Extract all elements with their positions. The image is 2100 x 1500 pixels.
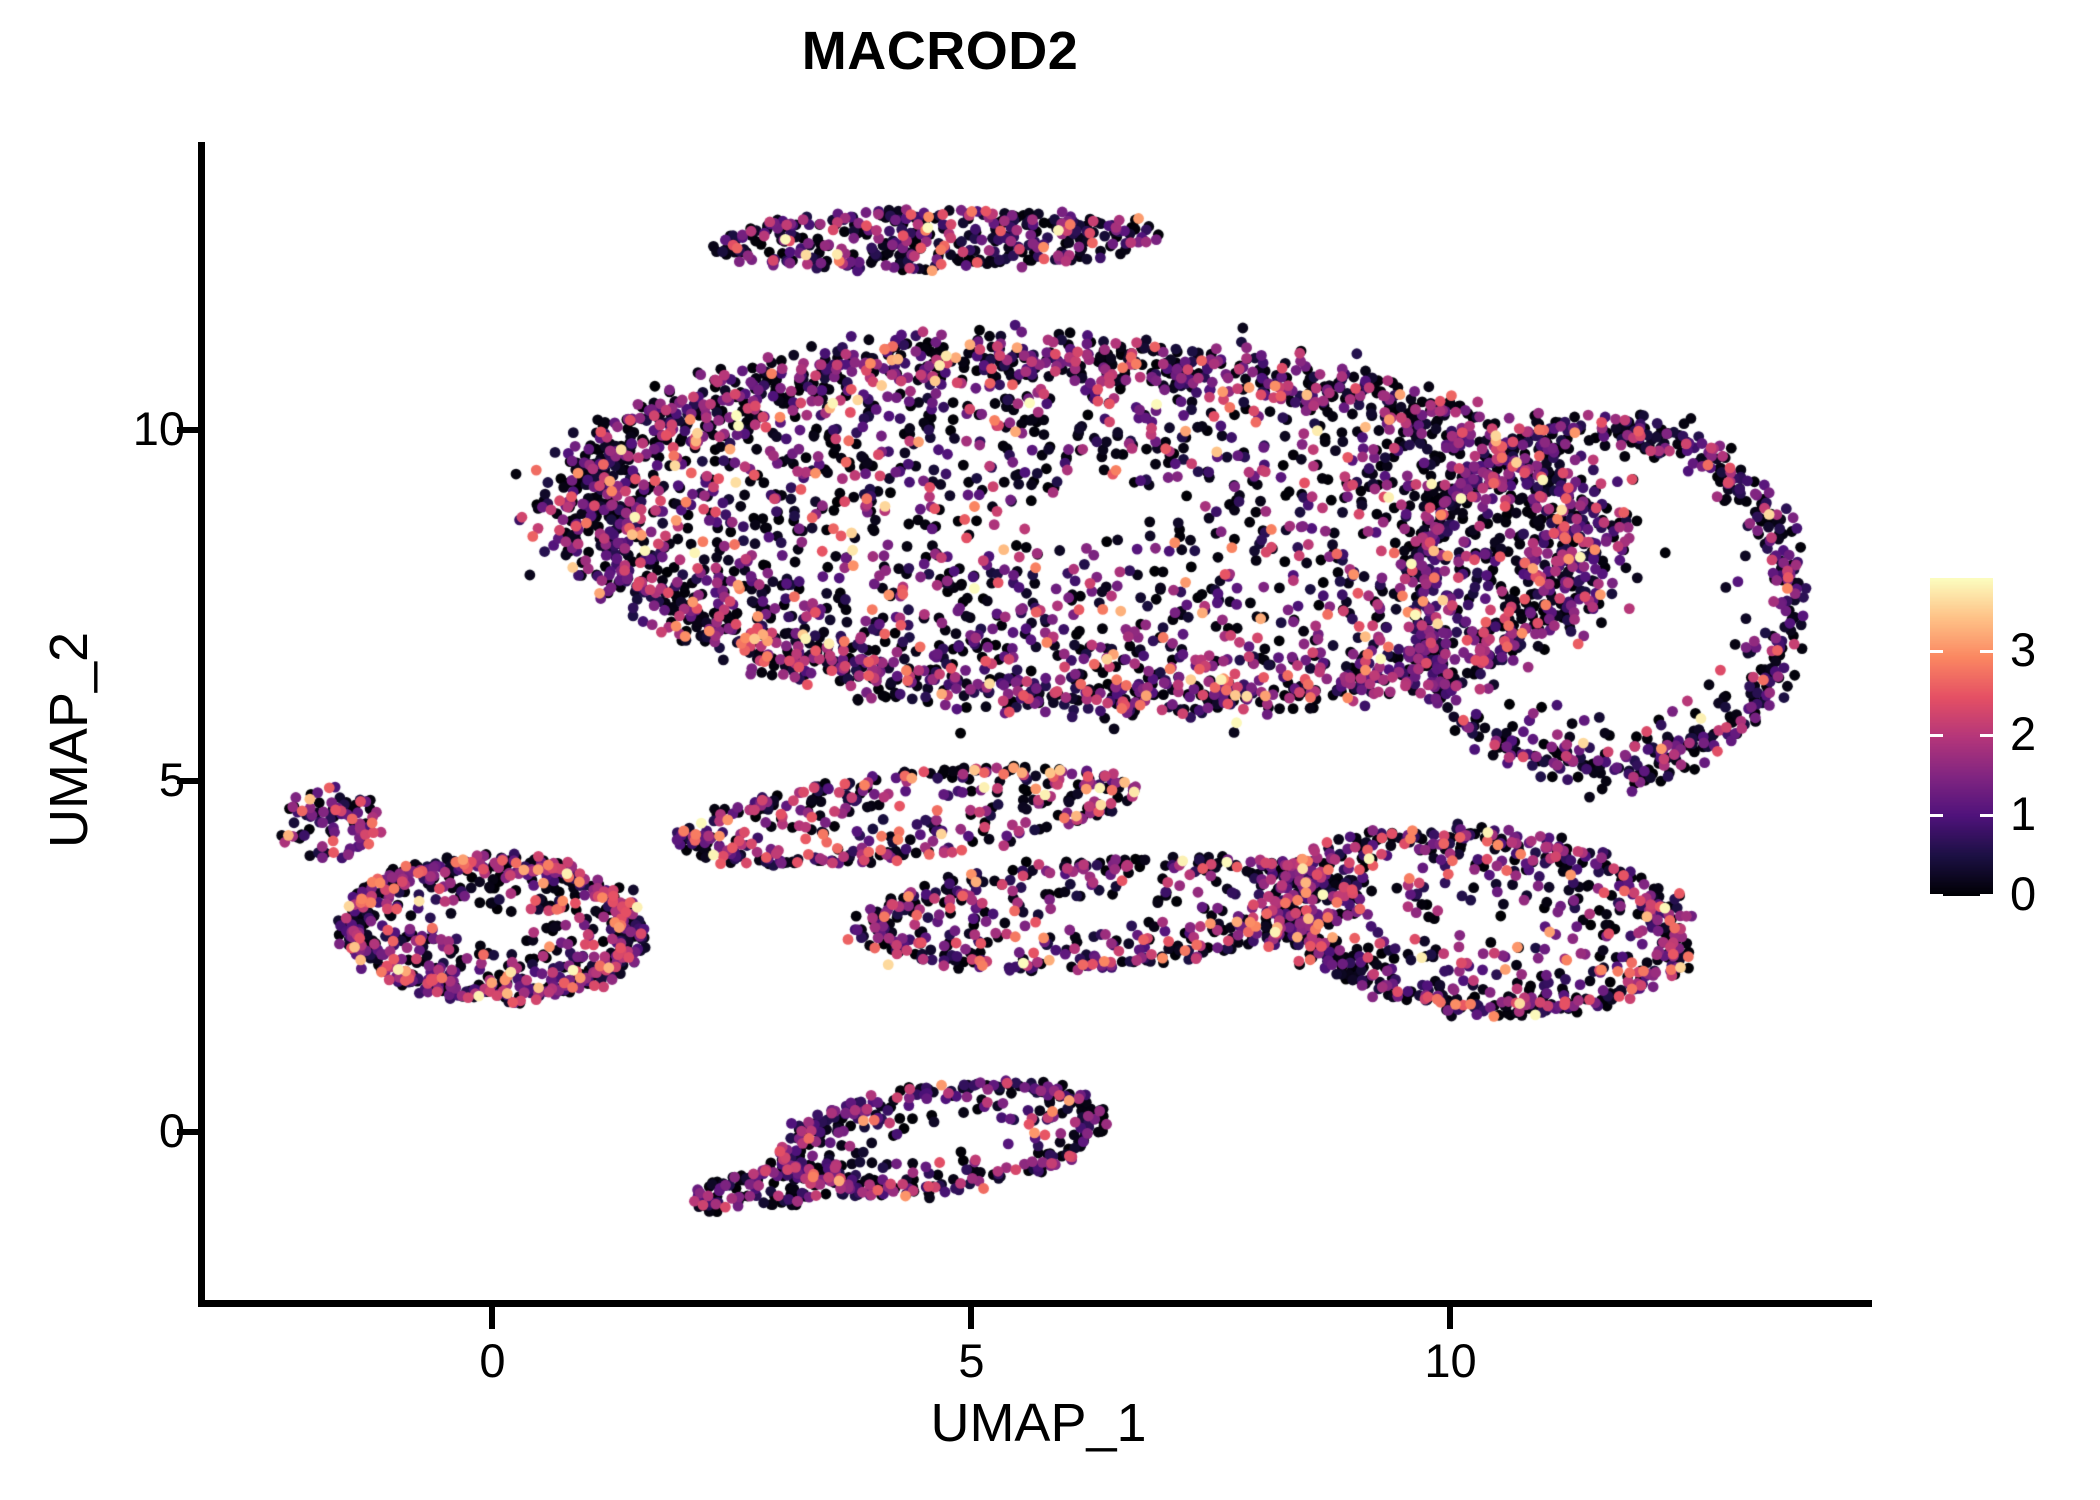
colorbar-gradient xyxy=(1930,578,1993,896)
colorbar-tick-mark xyxy=(1930,734,1943,737)
x-axis-line xyxy=(198,1300,1872,1307)
colorbar-tick-mark xyxy=(1930,894,1943,897)
x-tick-label: 10 xyxy=(1390,1337,1510,1384)
colorbar-tick-label: 0 xyxy=(2010,870,2036,917)
colorbar-tick-mark xyxy=(1930,650,1943,653)
colorbar-tick-mark xyxy=(1980,894,1993,897)
colorbar-tick-mark xyxy=(1930,814,1943,817)
color-legend: 3210 xyxy=(1930,578,2080,908)
y-tick-label: 0 xyxy=(159,1107,185,1154)
page-title: MACROD2 xyxy=(0,22,1880,81)
x-tick-mark xyxy=(968,1307,974,1329)
x-tick-label: 0 xyxy=(432,1337,552,1384)
x-tick-mark xyxy=(489,1307,495,1329)
colorbar-tick-mark xyxy=(1980,734,1993,737)
x-tick-mark xyxy=(1447,1307,1453,1329)
plot-panel xyxy=(205,142,1872,1300)
y-axis-line xyxy=(198,142,205,1307)
colorbar-tick-mark xyxy=(1980,814,1993,817)
colorbar-tick-label: 1 xyxy=(2010,790,2036,837)
colorbar-tick-mark xyxy=(1980,650,1993,653)
y-axis-label: UMAP_2 xyxy=(42,340,96,1140)
colorbar-tick-label: 2 xyxy=(2010,710,2036,757)
y-tick-label: 5 xyxy=(159,756,185,803)
umap-feature-plot: MACROD2 0510 0510 UMAP_1 UMAP_2 3210 xyxy=(0,0,2100,1500)
x-tick-label: 5 xyxy=(911,1337,1031,1384)
y-tick-label: 10 xyxy=(133,405,185,452)
x-axis-label: UMAP_1 xyxy=(205,1396,1872,1450)
scatter-point-cloud xyxy=(205,142,1872,1300)
colorbar-tick-label: 3 xyxy=(2010,626,2036,673)
